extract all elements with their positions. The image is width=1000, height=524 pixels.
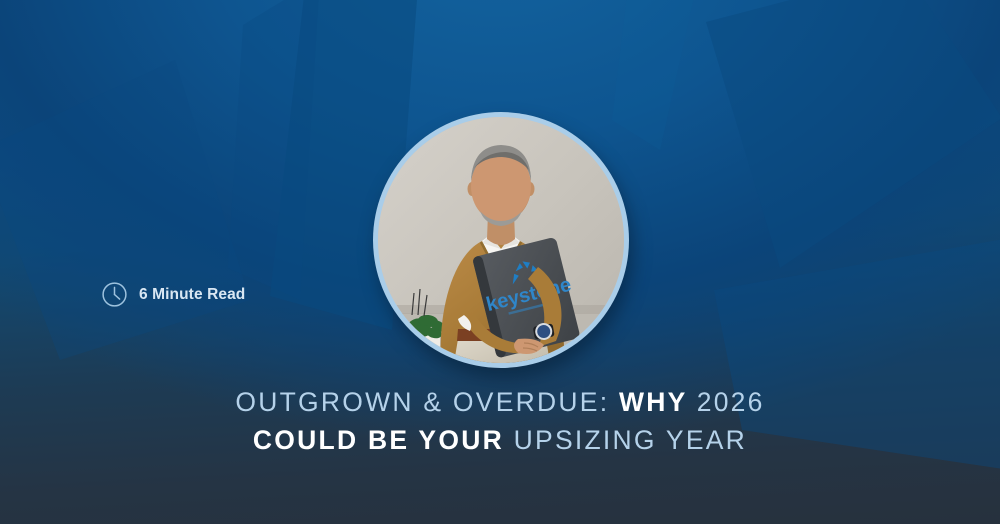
read-time-label: 6 Minute Read bbox=[139, 287, 245, 303]
headline-seg-could-be-your: COULD BE YOUR bbox=[253, 425, 504, 455]
read-time-indicator: 6 Minute Read bbox=[101, 281, 245, 308]
headline-line-2: COULD BE YOUR UPSIZING YEAR bbox=[0, 423, 1000, 457]
clock-icon bbox=[101, 281, 128, 308]
headline-seg-upsizing-year: UPSIZING YEAR bbox=[514, 425, 747, 455]
headline-line-1: OUTGROWN & OVERDUE: WHY 2026 bbox=[0, 385, 1000, 419]
blog-hero-banner: 6 Minute Read bbox=[0, 0, 1000, 524]
author-portrait: keystone bbox=[373, 112, 629, 368]
headline-seg-outgrown: OUTGROWN & OVERDUE: bbox=[235, 387, 609, 417]
page-title: OUTGROWN & OVERDUE: WHY 2026 COULD BE YO… bbox=[0, 385, 1000, 458]
headline-seg-2026: 2026 bbox=[697, 387, 765, 417]
portrait-photo: keystone bbox=[378, 117, 624, 363]
headline-seg-why: WHY bbox=[619, 387, 687, 417]
